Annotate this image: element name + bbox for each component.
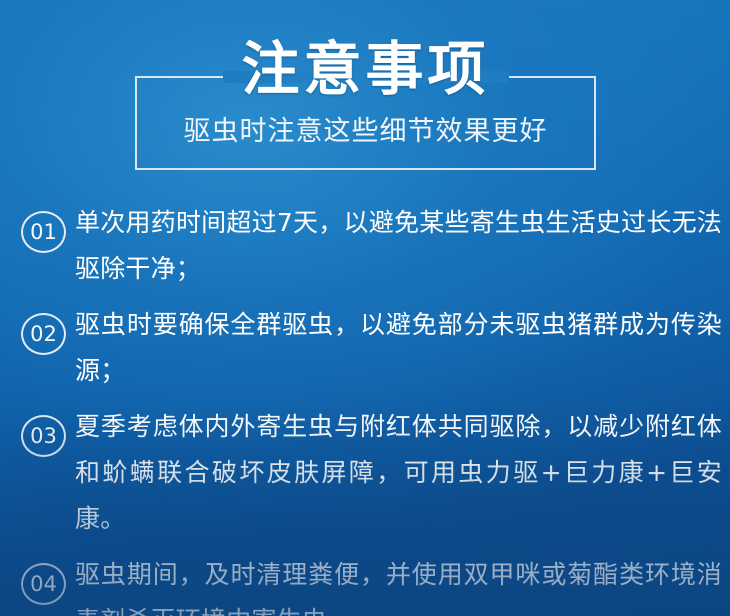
item-number-badge: 01 bbox=[21, 211, 66, 253]
list-item-text: 夏季考虑体内外寄生虫与附红体共同驱除，以减少附红体和蚧螨联合破坏皮肤屏障，可用虫… bbox=[75, 404, 722, 542]
item-number-badge: 02 bbox=[21, 313, 66, 355]
list-item: 03 夏季考虑体内外寄生虫与附红体共同驱除，以减少附红体和蚧螨联合破坏皮肤屏障，… bbox=[0, 404, 730, 542]
item-number-badge: 03 bbox=[21, 415, 66, 457]
header-frame: 注意事项 驱虫时注意这些细节效果更好 bbox=[135, 76, 596, 170]
notes-list: 01 单次用药时间超过7天，以避免某些寄生虫生活史过长无法驱除干净； 02 驱虫… bbox=[0, 200, 730, 616]
list-item: 04 驱虫期间，及时清理粪便，并使用双甲咪或菊酯类环境消毒剂杀灭环境中寄生虫。 bbox=[0, 552, 730, 616]
list-item-text: 驱虫时要确保全群驱虫，以避免部分未驱虫猪群成为传染源； bbox=[75, 302, 722, 394]
page-subtitle: 驱虫时注意这些细节效果更好 bbox=[135, 118, 596, 145]
poster-root: 注意事项 驱虫时注意这些细节效果更好 01 单次用药时间超过7天，以避免某些寄生… bbox=[0, 0, 730, 616]
list-item-text: 单次用药时间超过7天，以避免某些寄生虫生活史过长无法驱除干净； bbox=[75, 200, 722, 292]
page-title: 注意事项 bbox=[135, 40, 596, 98]
list-item: 01 单次用药时间超过7天，以避免某些寄生虫生活史过长无法驱除干净； bbox=[0, 200, 730, 292]
list-item: 02 驱虫时要确保全群驱虫，以避免部分未驱虫猪群成为传染源； bbox=[0, 302, 730, 394]
list-item-text: 驱虫期间，及时清理粪便，并使用双甲咪或菊酯类环境消毒剂杀灭环境中寄生虫。 bbox=[75, 552, 722, 616]
item-number-badge: 04 bbox=[21, 563, 66, 605]
